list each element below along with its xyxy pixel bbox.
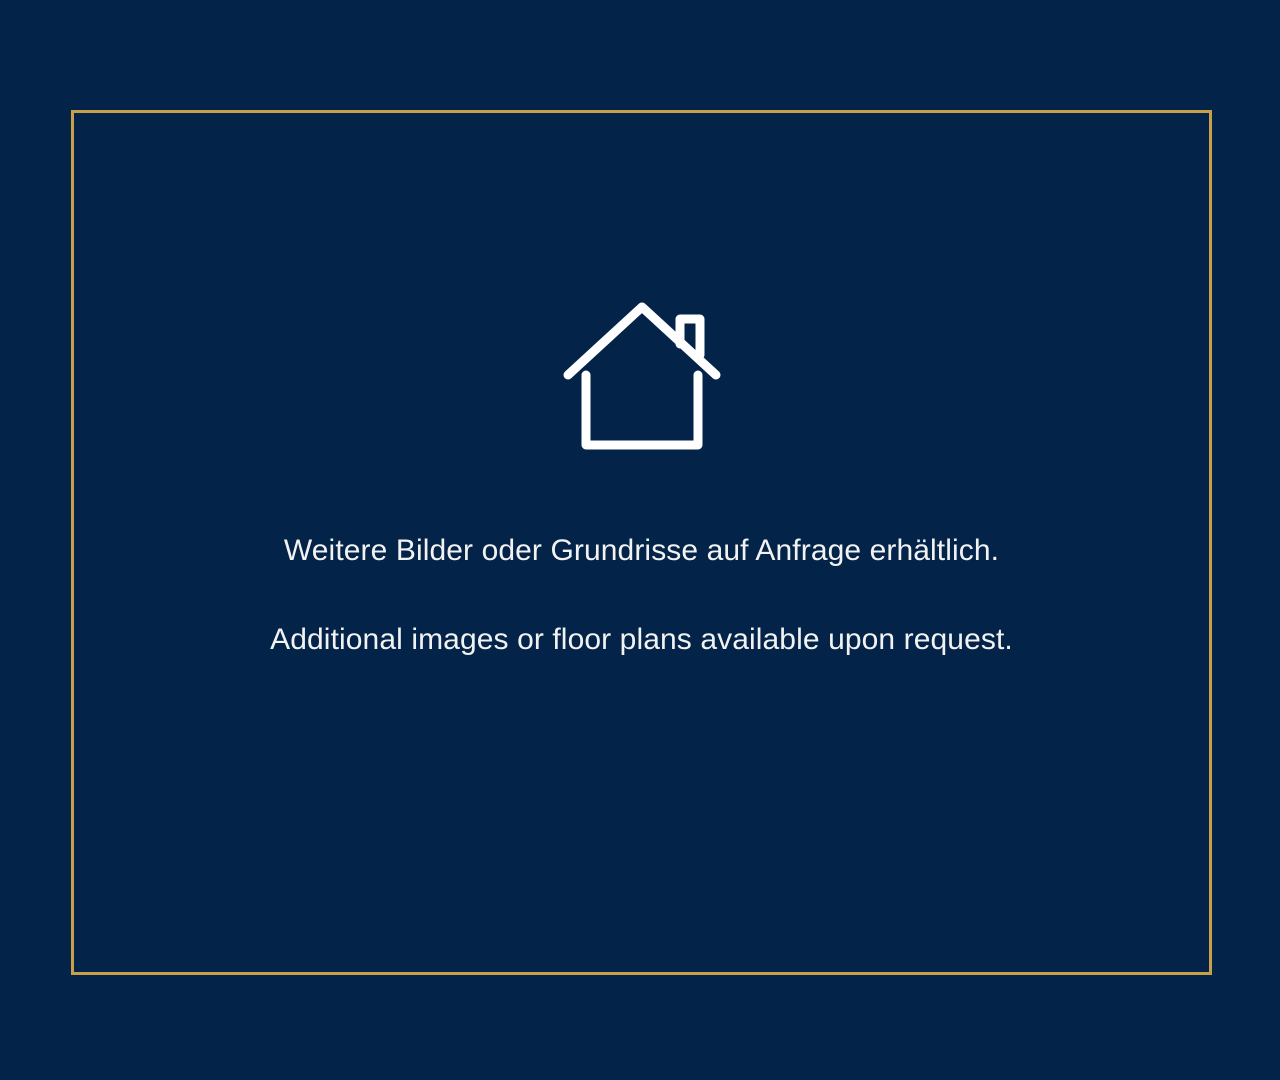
image-placeholder-card: Weitere Bilder oder Grundrisse auf Anfra…	[0, 0, 1280, 1080]
placeholder-message-en: Additional images or floor plans availab…	[71, 624, 1212, 656]
placeholder-message-block: Weitere Bilder oder Grundrisse auf Anfra…	[71, 535, 1212, 655]
house-icon	[562, 297, 722, 457]
placeholder-content: Weitere Bilder oder Grundrisse auf Anfra…	[71, 110, 1212, 975]
placeholder-message-de: Weitere Bilder oder Grundrisse auf Anfra…	[71, 535, 1212, 567]
